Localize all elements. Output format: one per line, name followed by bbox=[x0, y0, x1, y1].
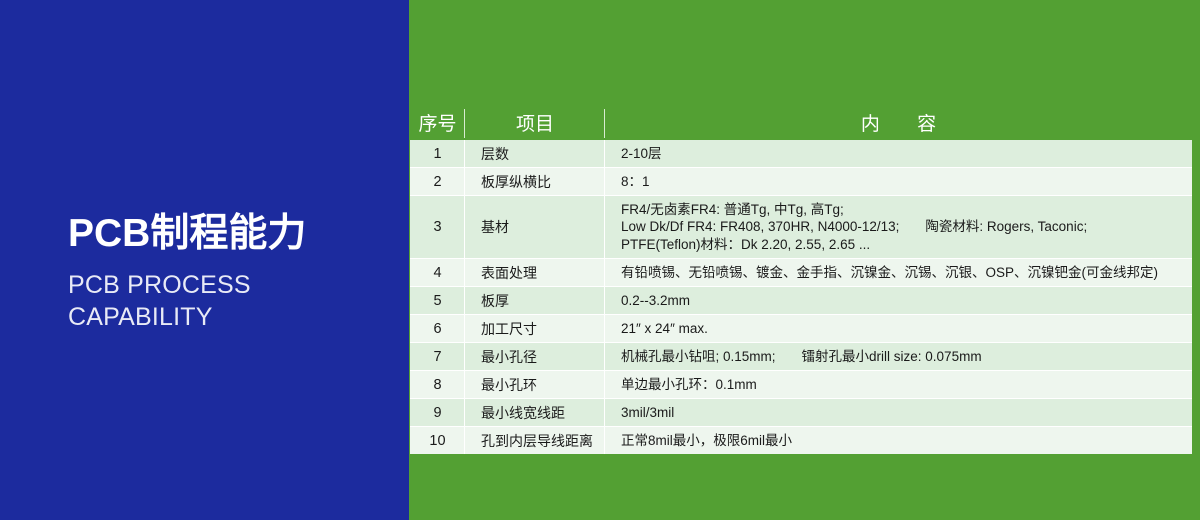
table-body: 1 层数 2-10层 2 板厚纵横比 8：1 3 基材 FR4/无卤素FR4: … bbox=[410, 140, 1192, 454]
cell-content: 21″ x 24″ max. bbox=[605, 315, 1192, 343]
table-row: 10 孔到内层导线距离 正常8mil最小，极限6mil最小 bbox=[410, 427, 1192, 455]
cell-item: 表面处理 bbox=[465, 259, 605, 287]
slide-root: PCB制程能力 PCB PROCESS CAPABILITY 序号 项目 内 容 bbox=[0, 0, 1200, 520]
capability-table: 序号 项目 内 容 1 层数 2-10层 2 板厚纵横比 8：1 3 bbox=[410, 105, 1192, 454]
col-header-item: 项目 bbox=[465, 105, 605, 140]
cell-content: 单边最小孔环：0.1mm bbox=[605, 371, 1192, 399]
table-row: 4 表面处理 有铅喷锡、无铅喷锡、镀金、金手指、沉镍金、沉锡、沉银、OSP、沉镍… bbox=[410, 259, 1192, 287]
cell-item: 加工尺寸 bbox=[465, 315, 605, 343]
cell-item: 板厚纵横比 bbox=[465, 168, 605, 196]
cell-no: 2 bbox=[410, 168, 465, 196]
content-part-b: 镭射孔最小drill size: 0.075mm bbox=[802, 349, 982, 364]
table-row: 5 板厚 0.2--3.2mm bbox=[410, 287, 1192, 315]
cell-item: 基材 bbox=[465, 196, 605, 259]
page-title-cn: PCB制程能力 bbox=[68, 212, 398, 257]
cell-no: 7 bbox=[410, 343, 465, 371]
cell-item: 板厚 bbox=[465, 287, 605, 315]
col-header-no: 序号 bbox=[410, 105, 465, 140]
cell-item: 最小孔径 bbox=[465, 343, 605, 371]
title-block: PCB制程能力 PCB PROCESS CAPABILITY bbox=[68, 212, 398, 333]
table-row: 1 层数 2-10层 bbox=[410, 140, 1192, 168]
cell-content: 3mil/3mil bbox=[605, 399, 1192, 427]
table-row: 2 板厚纵横比 8：1 bbox=[410, 168, 1192, 196]
page-title-en-line2: CAPABILITY bbox=[68, 301, 398, 333]
page-title-en: PCB PROCESS CAPABILITY bbox=[68, 269, 398, 333]
cell-content: 2-10层 bbox=[605, 140, 1192, 168]
col-header-content: 内 容 bbox=[605, 105, 1192, 140]
cell-no: 3 bbox=[410, 196, 465, 259]
table-row: 9 最小线宽线距 3mil/3mil bbox=[410, 399, 1192, 427]
table-header-row: 序号 项目 内 容 bbox=[410, 105, 1192, 140]
table-row: 8 最小孔环 单边最小孔环：0.1mm bbox=[410, 371, 1192, 399]
cell-item: 孔到内层导线距离 bbox=[465, 427, 605, 455]
cell-no: 8 bbox=[410, 371, 465, 399]
cell-no: 5 bbox=[410, 287, 465, 315]
content-line-1: FR4/无卤素FR4: 普通Tg, 中Tg, 高Tg; bbox=[621, 201, 1186, 218]
content-line-3: PTFE(Teflon)材料：Dk 2.20, 2.55, 2.65 ... bbox=[621, 236, 1186, 253]
cell-content: 8：1 bbox=[605, 168, 1192, 196]
cell-item: 最小孔环 bbox=[465, 371, 605, 399]
cell-no: 4 bbox=[410, 259, 465, 287]
cell-content: 有铅喷锡、无铅喷锡、镀金、金手指、沉镍金、沉锡、沉银、OSP、沉镍钯金(可金线邦… bbox=[605, 259, 1192, 287]
content-part-a: 机械孔最小钻咀; 0.15mm; bbox=[621, 349, 776, 364]
content-line-2b: 陶瓷材料: Rogers, Taconic; bbox=[925, 219, 1087, 234]
cell-content-multiline: FR4/无卤素FR4: 普通Tg, 中Tg, 高Tg; Low Dk/Df FR… bbox=[605, 196, 1192, 259]
cell-item: 最小线宽线距 bbox=[465, 399, 605, 427]
table-row: 3 基材 FR4/无卤素FR4: 普通Tg, 中Tg, 高Tg; Low Dk/… bbox=[410, 196, 1192, 259]
cell-no: 9 bbox=[410, 399, 465, 427]
cell-content: 正常8mil最小，极限6mil最小 bbox=[605, 427, 1192, 455]
content-line-2: Low Dk/Df FR4: FR408, 370HR, N4000-12/13… bbox=[621, 218, 1186, 235]
capability-table-wrap: 序号 项目 内 容 1 层数 2-10层 2 板厚纵横比 8：1 3 bbox=[410, 105, 1192, 447]
table-head: 序号 项目 内 容 bbox=[410, 105, 1192, 140]
cell-item: 层数 bbox=[465, 140, 605, 168]
table-row: 7 最小孔径 机械孔最小钻咀; 0.15mm;镭射孔最小drill size: … bbox=[410, 343, 1192, 371]
page-title-en-line1: PCB PROCESS bbox=[68, 269, 398, 301]
cell-content: 0.2--3.2mm bbox=[605, 287, 1192, 315]
cell-content-split: 机械孔最小钻咀; 0.15mm;镭射孔最小drill size: 0.075mm bbox=[605, 343, 1192, 371]
table-row: 6 加工尺寸 21″ x 24″ max. bbox=[410, 315, 1192, 343]
content-line-2a: Low Dk/Df FR4: FR408, 370HR, N4000-12/13… bbox=[621, 219, 899, 234]
cell-no: 1 bbox=[410, 140, 465, 168]
cell-no: 6 bbox=[410, 315, 465, 343]
cell-no: 10 bbox=[410, 427, 465, 455]
